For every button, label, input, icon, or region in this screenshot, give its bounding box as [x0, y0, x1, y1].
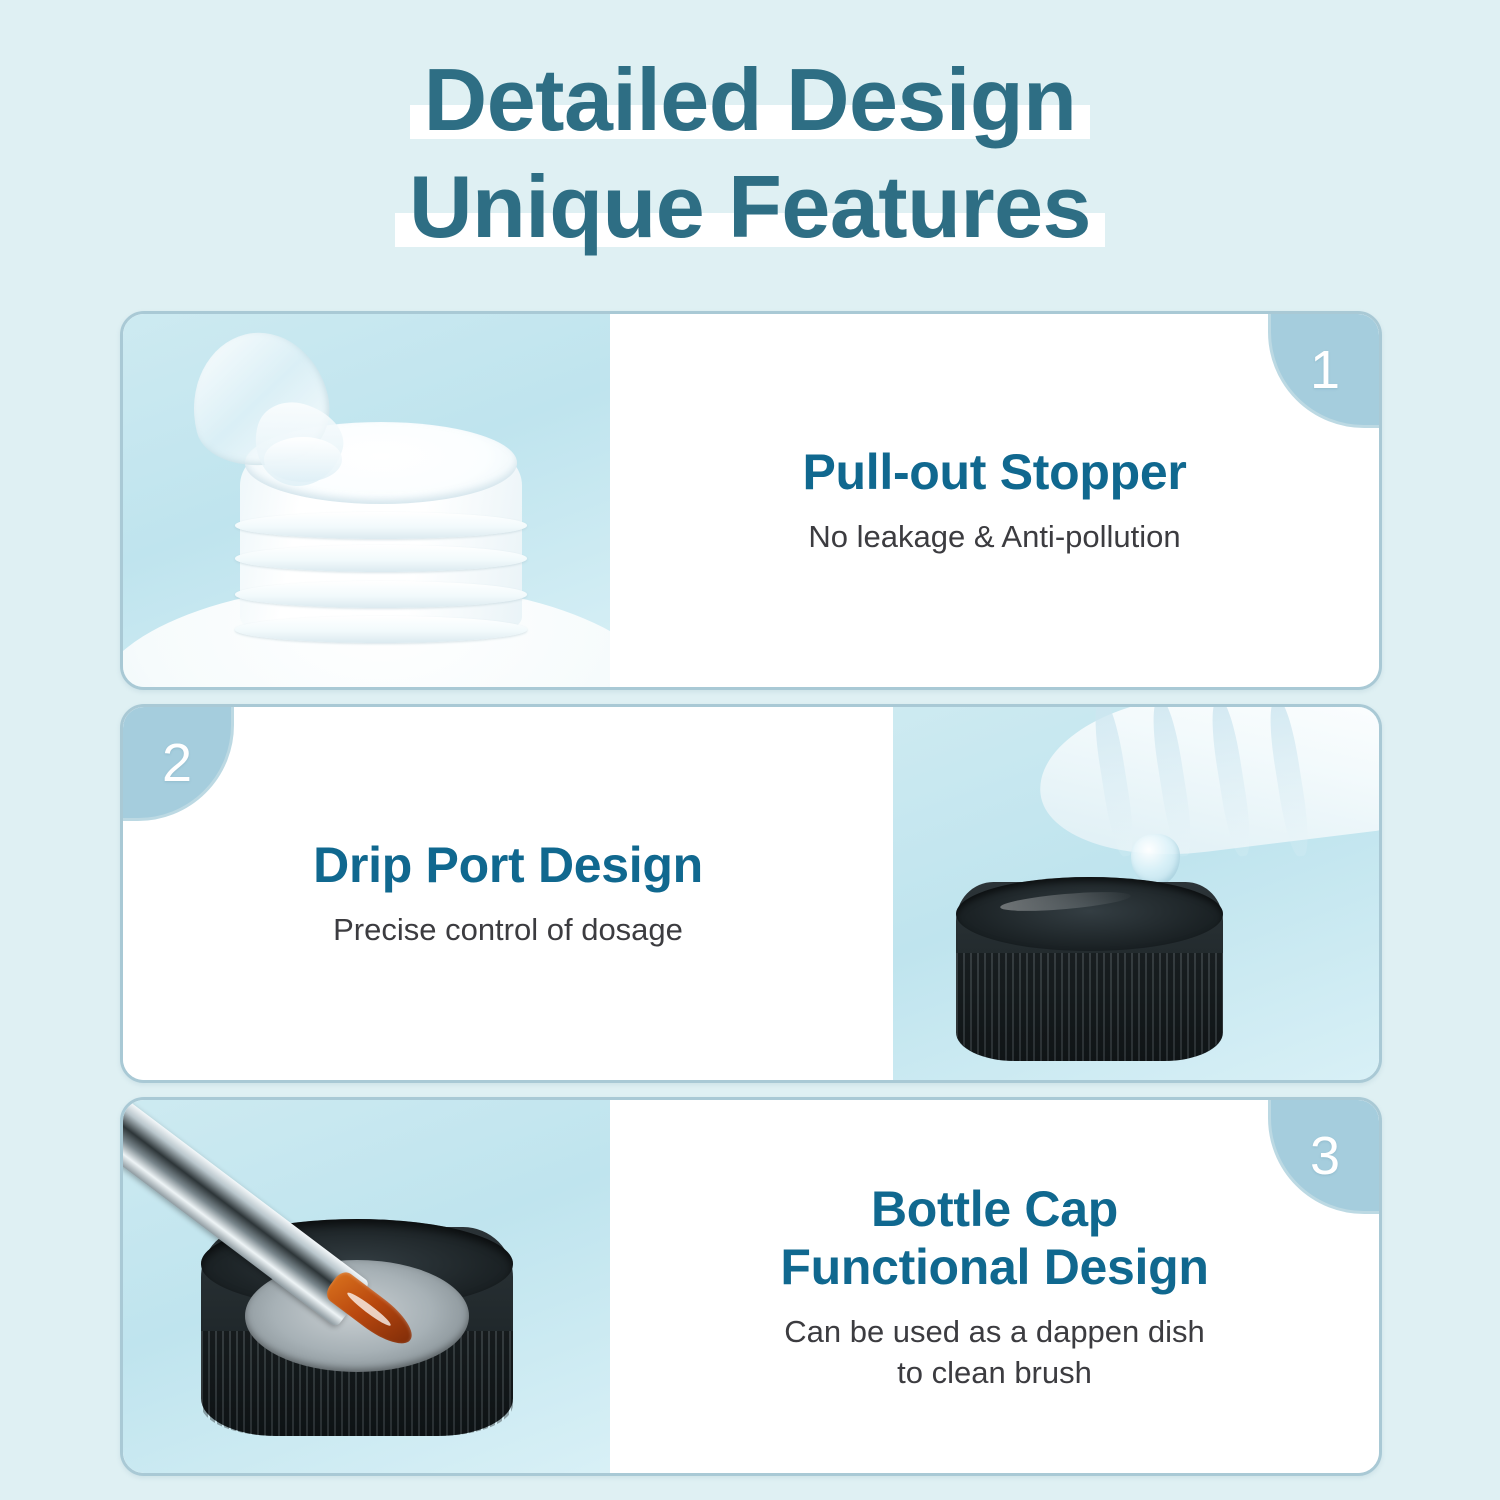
bottle-thread-ring — [235, 545, 527, 572]
card-number-badge-3: 3 — [1268, 1097, 1382, 1214]
feature-subtitle-2: Precise control of dosage — [333, 910, 683, 950]
title-line-1-text: Detailed Design — [424, 50, 1077, 149]
title-line-1: Detailed Design — [410, 46, 1091, 153]
title-line-2: Unique Features — [395, 153, 1105, 260]
feature-card-1-body: 1 Pull-out Stopper No leakage & Anti-pol… — [610, 314, 1379, 687]
card-number-1-text: 1 — [1310, 339, 1340, 401]
feature-card-2-body: 2 Drip Port Design Precise control of do… — [123, 707, 893, 1080]
card-number-3-text: 3 — [1310, 1125, 1340, 1187]
product-photo-bottle-cap-dappen-dish — [123, 1100, 610, 1473]
feature-heading-3: Bottle Cap Functional Design — [780, 1180, 1208, 1296]
feature-heading-3-line-1: Bottle Cap — [871, 1181, 1118, 1237]
bottle-thread-ring — [235, 616, 527, 643]
bottle-tip-shape — [1031, 707, 1379, 871]
infographic-page: Detailed Design Unique Features — [0, 0, 1500, 1500]
feature-subtitle-3-line-2: to clean brush — [897, 1355, 1092, 1390]
feature-subtitle-1: No leakage & Anti-pollution — [808, 517, 1180, 557]
feature-card-2[interactable]: 2 Drip Port Design Precise control of do… — [120, 704, 1382, 1083]
stopper-foot-shape — [264, 437, 342, 482]
feature-card-1[interactable]: 1 Pull-out Stopper No leakage & Anti-pol… — [120, 311, 1382, 690]
feature-heading-2: Drip Port Design — [313, 836, 703, 894]
title-line-2-text: Unique Features — [409, 157, 1091, 256]
product-photo-drip-port — [893, 707, 1379, 1080]
feature-card-3[interactable]: 3 Bottle Cap Functional Design Can be us… — [120, 1097, 1382, 1476]
feature-heading-3-line-2: Functional Design — [780, 1239, 1208, 1295]
card-number-badge-2: 2 — [120, 704, 234, 821]
product-photo-pull-out-stopper — [123, 314, 610, 687]
feature-subtitle-3: Can be used as a dappen dish to clean br… — [784, 1312, 1205, 1393]
card-number-badge-1: 1 — [1268, 311, 1382, 428]
bottle-thread-ring — [235, 581, 527, 608]
card-number-2-text: 2 — [162, 732, 192, 794]
black-cap-ribs — [956, 953, 1223, 1061]
black-cap-mouth-shape — [956, 877, 1223, 952]
feature-heading-1: Pull-out Stopper — [802, 443, 1186, 501]
bottle-thread-ring — [235, 512, 527, 539]
feature-subtitle-3-line-1: Can be used as a dappen dish — [784, 1314, 1205, 1349]
liquid-droplet-shape — [1131, 834, 1180, 886]
page-title: Detailed Design Unique Features — [0, 46, 1500, 261]
feature-card-3-body: 3 Bottle Cap Functional Design Can be us… — [610, 1100, 1379, 1473]
